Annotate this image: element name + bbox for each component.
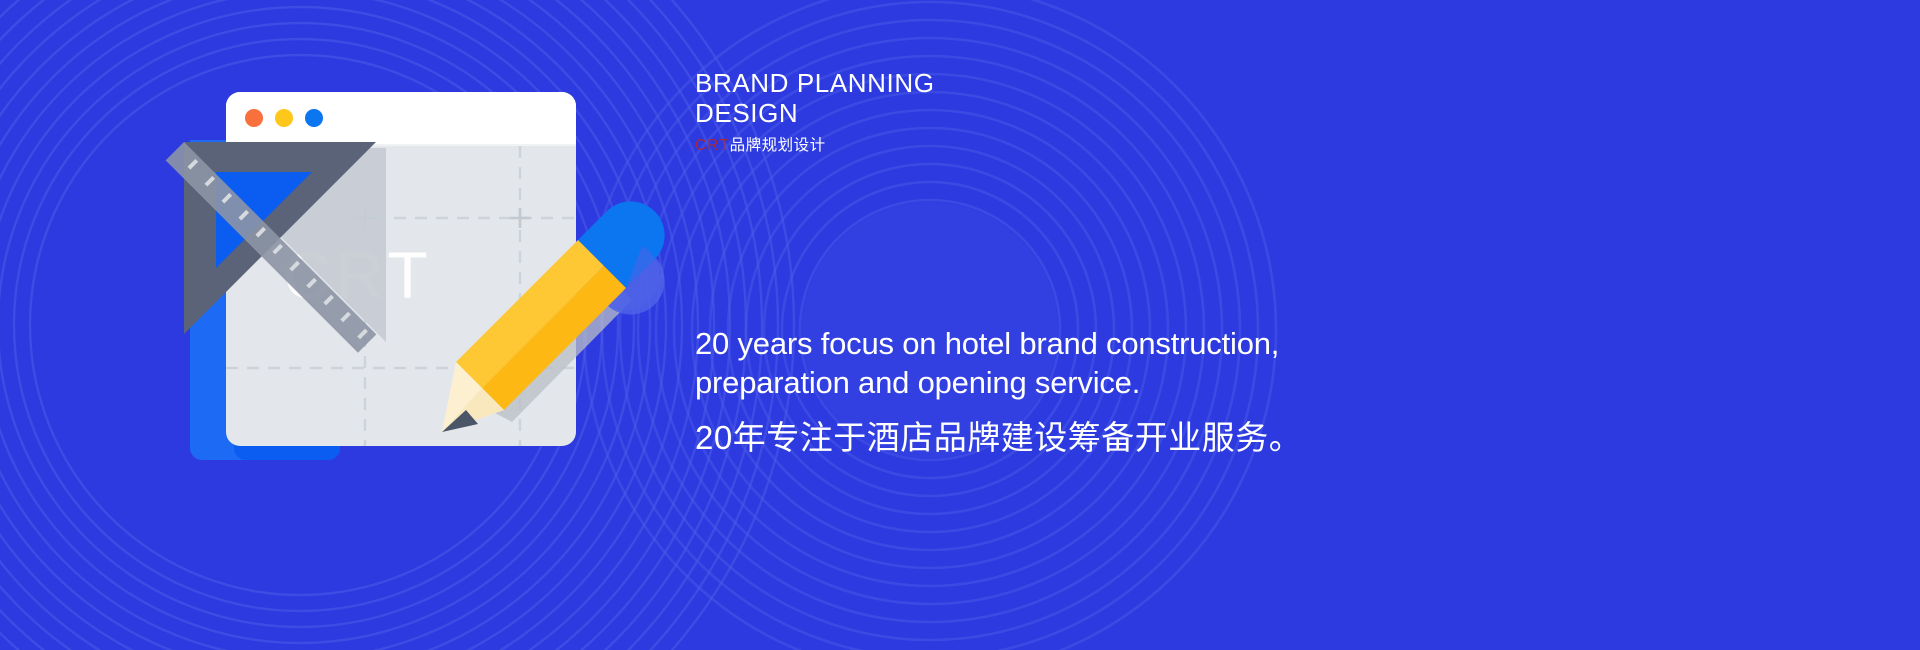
- subtitle: CRT品牌规划设计: [695, 137, 1315, 156]
- text-column: BRAND PLANNING DESIGN CRT品牌规划设计 20 years…: [695, 0, 1845, 650]
- subtitle-chinese: 品牌规划设计: [730, 137, 826, 154]
- window-dot-red: [245, 109, 263, 127]
- tagline-english: 20 years focus on hotel brand constructi…: [695, 325, 1455, 403]
- brand-design-illustration: CRT: [190, 80, 690, 460]
- window-dot-blue: [305, 109, 323, 127]
- window-dot-yellow: [275, 109, 293, 127]
- subtitle-brand: CRT: [695, 137, 730, 154]
- page-title: BRAND PLANNING DESIGN: [695, 68, 1315, 128]
- tagline-chinese: 20年专注于酒店品牌建设筹备开业服务。: [695, 417, 1455, 460]
- hero-banner: CRT: [0, 0, 1920, 650]
- headline-block: BRAND PLANNING DESIGN CRT品牌规划设计: [695, 68, 1315, 156]
- tagline-block: 20 years focus on hotel brand constructi…: [695, 325, 1455, 459]
